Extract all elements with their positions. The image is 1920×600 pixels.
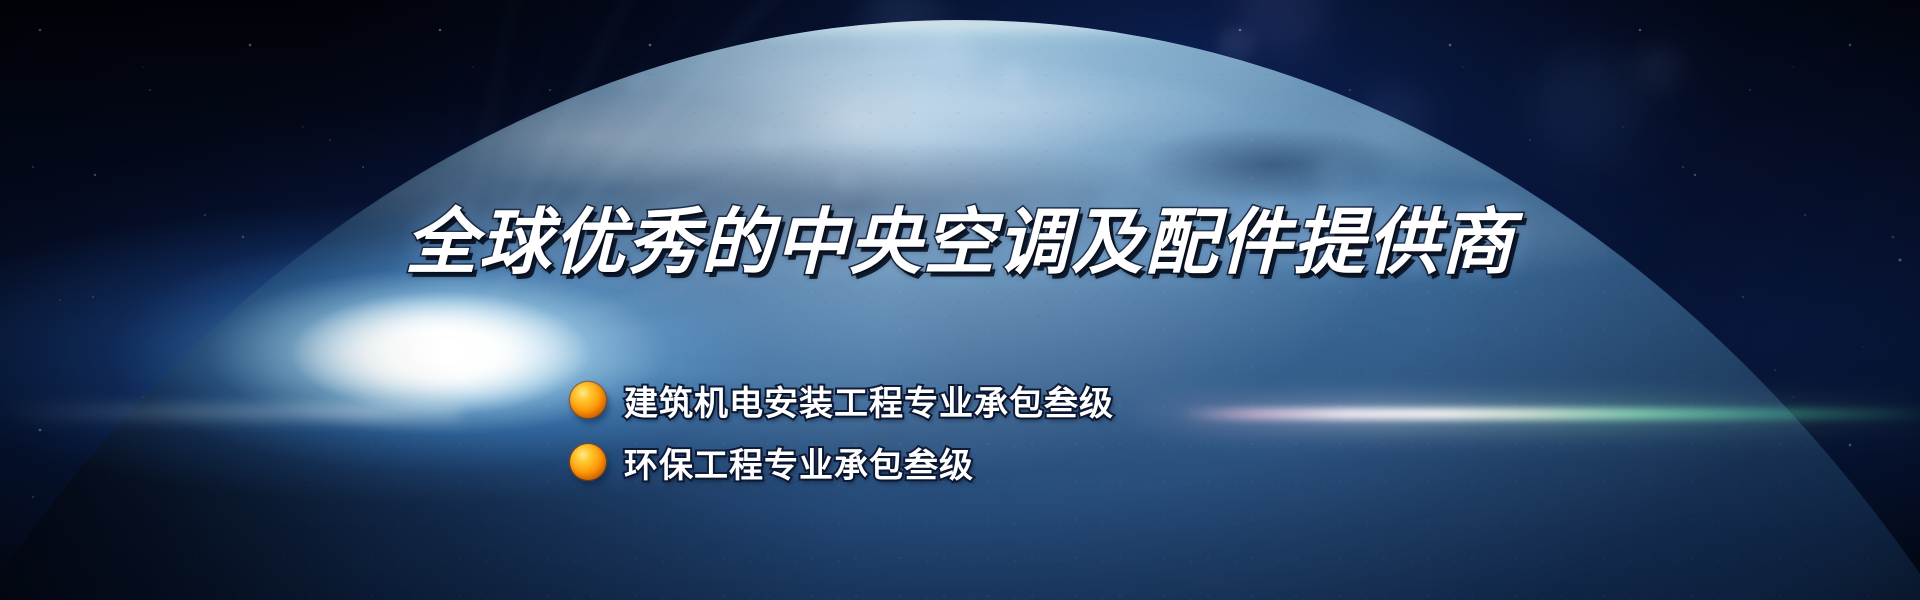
list-item-label: 环保工程专业承包叁级 (624, 438, 974, 487)
list-item-label: 建筑机电安装工程专业承包叁级 (624, 376, 1114, 425)
orange-bullet-icon (570, 444, 606, 480)
page-title: 全球优秀的中央空调及配件提供商 (0, 206, 1920, 282)
hero-banner: 全球优秀的中央空调及配件提供商 建筑机电安装工程专业承包叁级 环保工程专业承包叁… (0, 0, 1920, 600)
list-item: 建筑机电安装工程专业承包叁级 (570, 372, 1114, 428)
certification-list: 建筑机电安装工程专业承包叁级 环保工程专业承包叁级 (570, 372, 1114, 496)
list-item: 环保工程专业承包叁级 (570, 434, 1114, 490)
orange-bullet-icon (570, 382, 606, 418)
banner-content: 全球优秀的中央空调及配件提供商 建筑机电安装工程专业承包叁级 环保工程专业承包叁… (0, 0, 1920, 600)
